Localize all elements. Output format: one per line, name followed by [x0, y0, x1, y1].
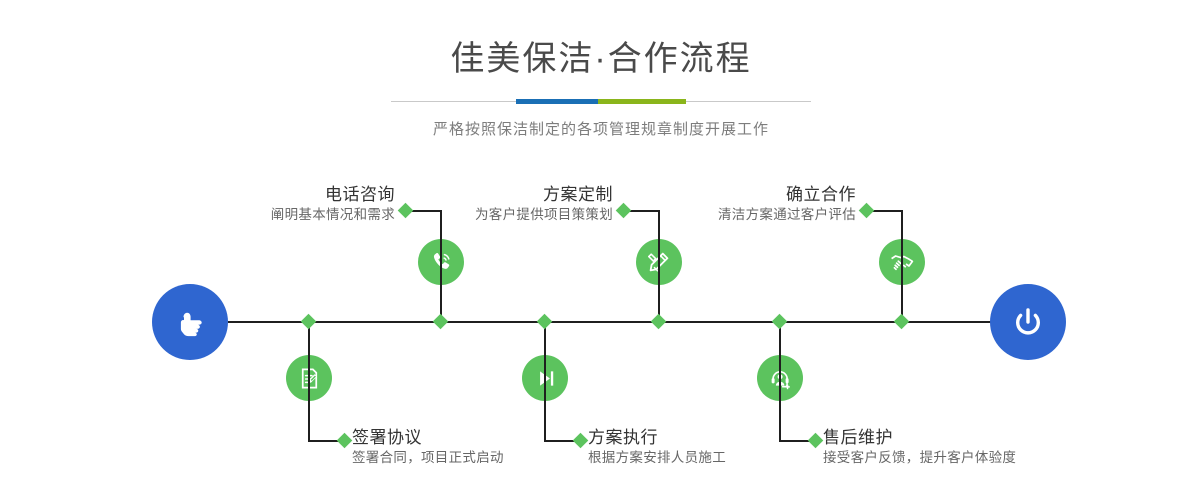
- step-axis-diamond-4: [537, 314, 553, 330]
- step-label-diamond-2: [337, 433, 353, 449]
- timeline-start-endpoint[interactable]: [152, 284, 228, 360]
- step-label-5: 确立合作 清洁方案通过客户评估: [601, 184, 856, 226]
- step-desc-6: 接受客户反馈，提升客户体验度: [823, 448, 1016, 468]
- timeline-end-endpoint[interactable]: [990, 284, 1066, 360]
- step-desc-2: 签署合同，项目正式启动: [352, 448, 504, 468]
- process-timeline: 电话咨询 阐明基本情况和需求 签署协议 签署合同，项目正式启动: [0, 0, 1202, 502]
- step-stem-5: [901, 210, 903, 322]
- step-axis-diamond-1: [433, 314, 449, 330]
- step-desc-3: 为客户提供项目策策划: [358, 205, 613, 225]
- step-label-2: 签署协议 签署合同，项目正式启动: [352, 427, 504, 469]
- timeline-axis: [228, 321, 998, 323]
- step-title-3: 方案定制: [358, 184, 613, 205]
- step-title-1: 电话咨询: [140, 184, 395, 205]
- step-axis-diamond-5: [894, 314, 910, 330]
- step-desc-1: 阐明基本情况和需求: [140, 205, 395, 225]
- step-label-6: 售后维护 接受客户反馈，提升客户体验度: [823, 427, 1016, 469]
- pointing-hand-icon: [170, 302, 210, 342]
- flow-diagram-page: 佳美保洁·合作流程 严格按照保洁制定的各项管理规章制度开展工作: [0, 0, 1202, 502]
- step-desc-5: 清洁方案通过客户评估: [601, 205, 856, 225]
- step-stem-3: [658, 210, 660, 322]
- step-label-diamond-5: [859, 203, 875, 219]
- step-label-diamond-6: [808, 433, 824, 449]
- step-axis-diamond-2: [301, 314, 317, 330]
- step-axis-diamond-6: [772, 314, 788, 330]
- step-label-1: 电话咨询 阐明基本情况和需求: [140, 184, 395, 226]
- step-label-diamond-4: [573, 433, 589, 449]
- step-label-3: 方案定制 为客户提供项目策策划: [358, 184, 613, 226]
- step-title-2: 签署协议: [352, 427, 504, 448]
- step-title-6: 售后维护: [823, 427, 1016, 448]
- step-stem-2: [308, 321, 310, 441]
- step-stem-4: [544, 321, 546, 441]
- step-desc-4: 根据方案安排人员施工: [588, 448, 726, 468]
- step-label-4: 方案执行 根据方案安排人员施工: [588, 427, 726, 469]
- step-axis-diamond-3: [651, 314, 667, 330]
- step-stem-6: [779, 321, 781, 441]
- step-stem-1: [440, 210, 442, 322]
- step-title-4: 方案执行: [588, 427, 726, 448]
- power-icon: [1008, 302, 1048, 342]
- step-title-5: 确立合作: [601, 184, 856, 205]
